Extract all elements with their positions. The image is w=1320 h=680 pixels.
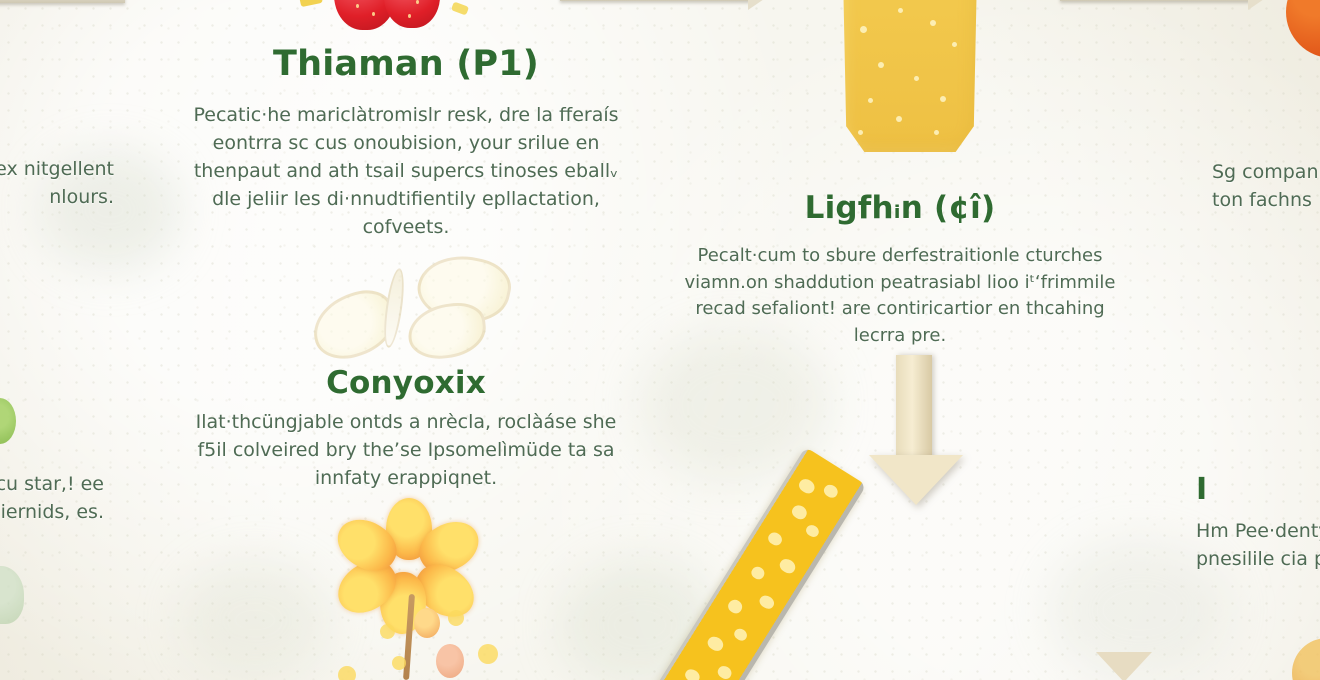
section-right-top-clipped: Sg companur hiender ton fachns	[1212, 158, 1320, 214]
section-ligfhin-body: Pecalt·cum to sbure derfestraitionle ctu…	[680, 243, 1120, 350]
section-ligfhin-heading: Ligfhᵢn (¢î)	[680, 190, 1120, 226]
section-right-bottom-clipped: I Hm Pee·denty·i defolity pnesilile cia …	[1196, 472, 1320, 573]
flower-petal	[406, 555, 483, 628]
flower-stem	[403, 594, 415, 680]
flower-petal	[328, 551, 405, 624]
yellow-fleck	[451, 2, 469, 16]
flower-petal	[329, 510, 406, 581]
section-thiamin-heading: Thiaman (P1)	[178, 44, 634, 84]
arrow-head	[1248, 0, 1270, 10]
arrow-down-icon	[866, 355, 966, 507]
flower-petal	[386, 498, 432, 560]
section-conyoxix: Conyoxix Ilat·thcüngjable ontds a nrècla…	[178, 365, 634, 492]
section-thiamin-body: Pecatic·he mariclàtromislr resk, dre la …	[178, 101, 634, 242]
arrow-down-icon	[1096, 652, 1152, 680]
butterfly-wing	[304, 283, 403, 368]
strawberry-body	[334, 0, 396, 30]
arrow-shaft	[896, 355, 932, 459]
section-right-bottom-heading: I	[1196, 472, 1320, 507]
arrow-right-icon	[1060, 0, 1250, 4]
orange-fruit-icon	[1286, 0, 1320, 58]
section-ligfhin: Ligfhᵢn (¢î) Pecalt·cum to sbure derfest…	[680, 190, 1120, 350]
arrow-right-icon	[560, 0, 750, 4]
section-left-top-body: lcoragiex nitgellent nlours.	[0, 155, 114, 211]
juice-liquid	[834, 0, 986, 152]
background-blotch	[180, 560, 330, 680]
flower-petal	[411, 512, 487, 582]
green-leaf-icon	[0, 566, 24, 624]
section-thiamin: Thiaman (P1) Pecatic·he mariclàtromislr …	[178, 44, 634, 242]
strawberry-body	[384, 0, 440, 28]
section-left-bottom-body: rt oolarie cu star,! ee iernids, es.	[0, 470, 104, 526]
section-conyoxix-body: Ilat·thcüngjable ontds a nrècla, roclàás…	[178, 408, 634, 492]
butterfly-wing	[412, 247, 516, 331]
green-leaf-icon	[0, 398, 16, 444]
arrow-head	[869, 455, 963, 505]
arrow-head	[748, 0, 770, 10]
section-right-bottom-body: Hm Pee·denty·i defolity pnesilile cia po…	[1196, 517, 1320, 573]
flower-icon	[318, 498, 528, 680]
corn-bar-icon	[631, 447, 867, 680]
flower-petal	[379, 571, 427, 635]
arrow-shaft	[1060, 0, 1250, 1]
juice-glass-icon	[834, 0, 986, 152]
poster-canvas: Thiaman (P1) Pecatic·he mariclàtromislr …	[0, 0, 1320, 680]
section-left-top-clipped: lcoragiex nitgellent nlours.	[0, 155, 114, 211]
strawberry-icon	[312, 0, 442, 38]
flower-bud	[436, 644, 464, 678]
orange-fruit-icon	[1292, 638, 1320, 680]
section-left-bottom-clipped: rt oolarie cu star,! ee iernids, es.	[0, 470, 104, 526]
arrow-shaft	[0, 0, 125, 3]
section-right-top-body: Sg companur hiender ton fachns	[1212, 158, 1320, 214]
butterfly-wing	[405, 300, 488, 362]
arrow-shaft	[560, 0, 750, 1]
background-blotch	[560, 560, 720, 680]
butterfly-icon	[312, 252, 512, 360]
yellow-fleck	[299, 0, 323, 7]
arrow-left-icon	[0, 0, 125, 6]
background-blotch	[640, 330, 830, 480]
section-conyoxix-heading: Conyoxix	[178, 365, 634, 401]
butterfly-body	[381, 267, 408, 348]
flower-bud	[414, 608, 440, 638]
